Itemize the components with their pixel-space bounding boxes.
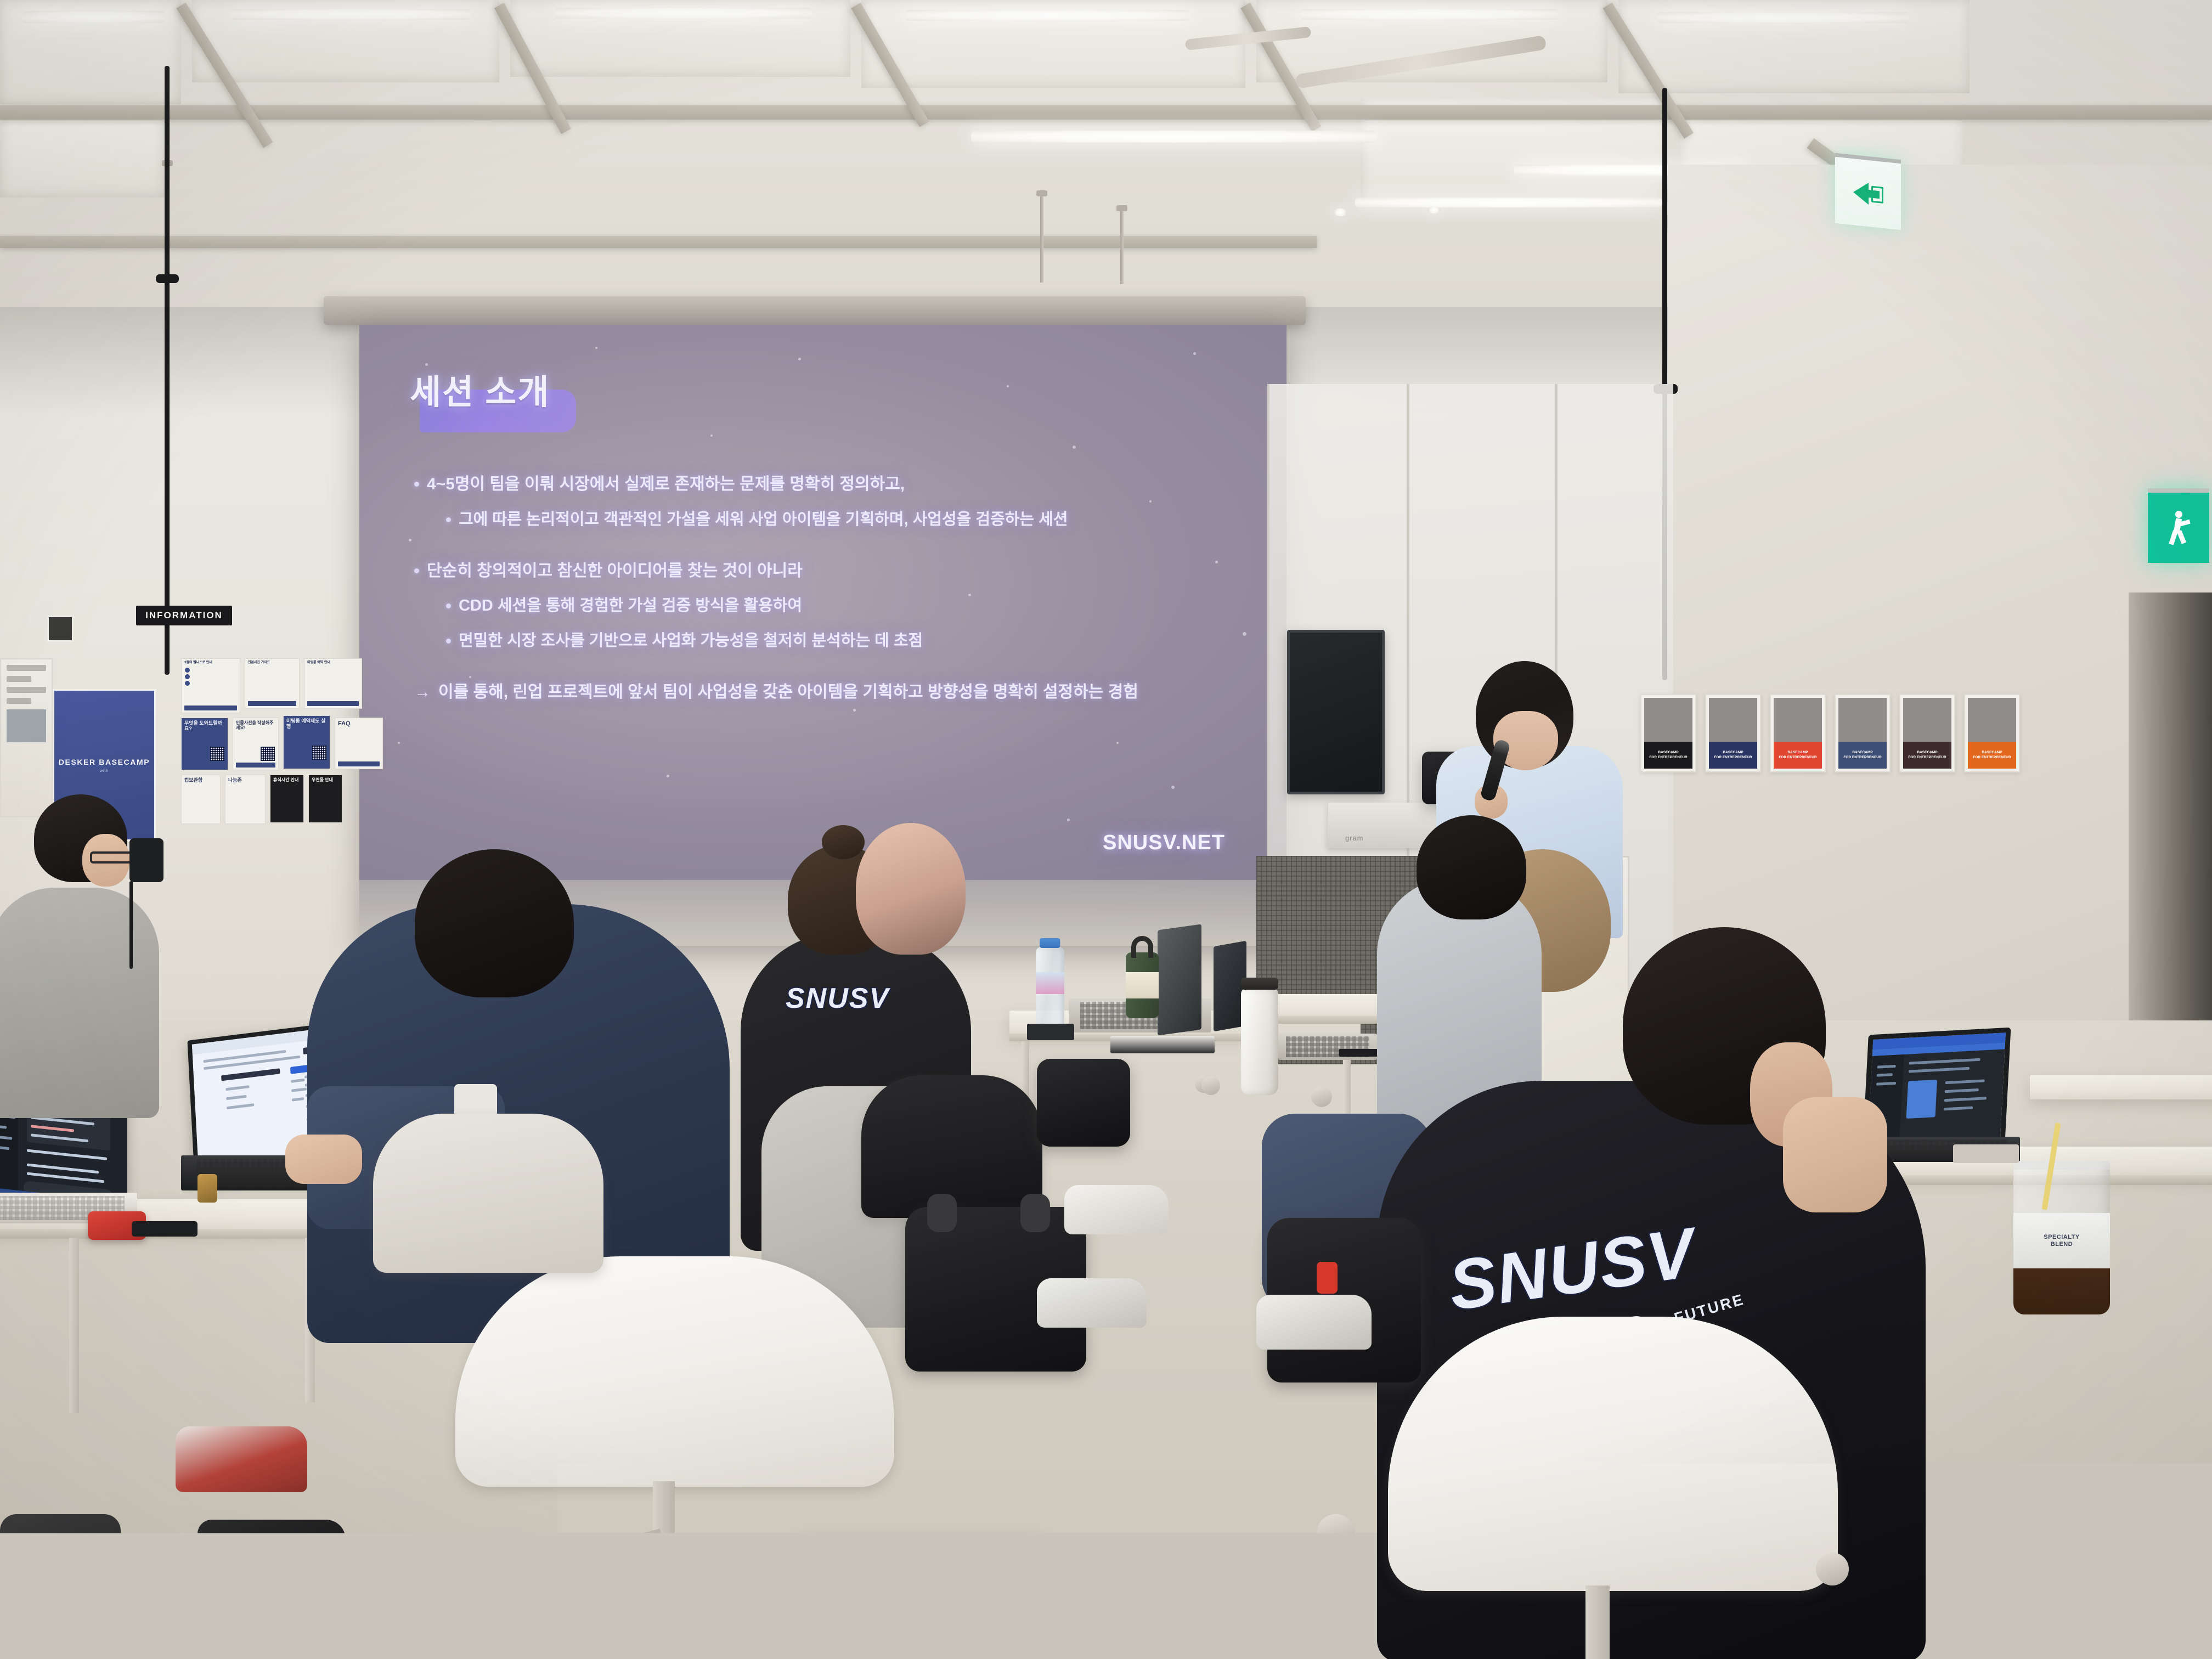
- white-tumbler: [1241, 988, 1278, 1095]
- small-photo-frame: [47, 616, 74, 642]
- poster: 인물사진을 작성해주세요!: [233, 718, 279, 770]
- cup-brand-line1: SPECIALTY: [2044, 1234, 2079, 1241]
- iced-coffee-cup: SPECIALTY BLEND: [2013, 1161, 2110, 1314]
- poster: 우편물 안내: [308, 775, 342, 823]
- attendee-left-body: [0, 888, 159, 1118]
- framed-photo: BASECAMP FOR ENTREPRENEUR: [1835, 694, 1891, 772]
- poster: 나눔존: [225, 775, 266, 824]
- cup-lid: [2013, 1161, 2110, 1170]
- arrow-right-icon: →: [414, 681, 431, 704]
- poster-heading: 인물사진을 작성해주세요!: [236, 720, 275, 730]
- foreground-desk-right: [1898, 1492, 2205, 1659]
- attendee-pink-hair: [856, 823, 966, 955]
- information-sign-label: INFORMATION: [145, 610, 223, 621]
- slide-bullet: 단순히 창의적이고 참신한 아이디어를 찾는 것이 아니라: [414, 560, 1248, 583]
- poster-wall: 3월의 웰니스로 안내 인물사진 가이드 미팅룸 예약 안내 무엇을 도와드릴까…: [181, 658, 362, 834]
- right-laptop-ui[interactable]: [1867, 1032, 2006, 1149]
- right-desk-2: [2030, 1075, 2212, 1099]
- slide-title-block: 세션 소개: [410, 364, 550, 414]
- sneaker-center: [1064, 1185, 1169, 1234]
- attendee-navy-hand: [285, 1135, 362, 1184]
- chair-back-center[interactable]: [455, 1256, 894, 1487]
- projector-screen-housing: [324, 296, 1306, 325]
- chair-caster: [1201, 1076, 1220, 1095]
- earphone-cable: [129, 881, 133, 969]
- bullet-text: 4~5명이 팀을 이뤄 시장에서 실제로 존재하는 문제를 명확히 정의하고,: [427, 473, 905, 496]
- photo-scene: 세션 소개 4~5명이 팀을 이뤄 시장에서 실제로 존재하는 문제를 명확히 …: [0, 0, 2212, 1659]
- sneaker-left: [176, 1426, 307, 1492]
- photo-caption-line1: BASECAMP: [1917, 751, 1937, 754]
- wall-mounted-tv: [1287, 630, 1385, 794]
- presenter-laptop-brand-label: gram: [1345, 834, 1364, 842]
- poster-chart-icon: [185, 668, 190, 687]
- poster: 무엇을 도와드릴까요?: [181, 718, 228, 770]
- slide-bullet: 그에 따른 논리적이고 객관적인 가설을 세워 사업 아이템을 기획하며, 사업…: [446, 509, 1248, 531]
- cable-clip-left: [156, 274, 179, 283]
- photo-caption-line2: FOR ENTREPRENEUR: [1779, 755, 1816, 759]
- attendee-center-bun: [822, 825, 865, 859]
- slide-bullet: 면밀한 시장 조사를 기반으로 사업화 가능성을 철저히 분석하는 데 초점: [446, 630, 1248, 652]
- foreground-object-left: [0, 1514, 121, 1659]
- poster-heading: FAQ: [338, 720, 380, 727]
- photo-caption-line1: BASECAMP: [1787, 751, 1808, 754]
- poster: 미팅룸 예약 안내: [304, 658, 362, 709]
- exit-sign-running-man-icon: [2148, 488, 2209, 563]
- slide-bullets: 4~5명이 팀을 이뤄 시장에서 실제로 존재하는 문제를 명확히 정의하고, …: [414, 473, 1248, 732]
- bullet-text: 이를 통해, 린업 프로젝트에 앞서 팀이 사업성을 갖춘 아이템을 기획하고 …: [438, 681, 1138, 704]
- desk-trinket: [198, 1174, 217, 1203]
- chair-caster: [1317, 1514, 1355, 1553]
- poster-heading: 컵보관함: [184, 777, 217, 783]
- attendee-gray-hair: [1417, 815, 1526, 919]
- exit-sign-arrow-icon: [1835, 153, 1901, 230]
- bullet-text: 단순히 창의적이고 참신한 아이디어를 찾는 것이 아니라: [427, 560, 803, 583]
- poster: 미팅룸 예약제도 실행: [283, 715, 330, 769]
- bullet-dot-icon: [414, 482, 419, 487]
- bullet-dot-icon: [414, 568, 419, 573]
- eyeglasses-icon: [90, 851, 133, 864]
- slide-bullet-group-1: 4~5명이 팀을 이뤄 시장에서 실제로 존재하는 문제를 명확히 정의하고, …: [414, 473, 1248, 531]
- poster: 3월의 웰니스로 안내: [181, 658, 240, 713]
- photo-image: [1838, 698, 1887, 742]
- bag-handle: [955, 1564, 1015, 1594]
- photo-caption-line1: BASECAMP: [1723, 751, 1743, 754]
- slide-bullet: CDD 세션을 통해 경험한 가설 검증 방식을 활용하여: [446, 595, 1248, 617]
- sneaker-left-2: [198, 1520, 346, 1591]
- foreground-chair-top: [510, 1558, 949, 1659]
- photo-caption-line2: FOR ENTREPRENEUR: [1714, 755, 1752, 759]
- photo-caption-line2: FOR ENTREPRENEUR: [1843, 755, 1881, 759]
- photo-caption-line2: FOR ENTREPRENEUR: [1649, 755, 1687, 759]
- photo-caption-line2: FOR ENTREPRENEUR: [1908, 755, 1946, 759]
- photo-caption-line2: FOR ENTREPRENEUR: [1973, 755, 2011, 759]
- bullet-dot-icon: [446, 517, 451, 522]
- banner-subtitle: with: [100, 769, 109, 773]
- framed-photo: BASECAMP FOR ENTREPRENEUR: [1770, 694, 1826, 772]
- bullet-dot-icon: [446, 603, 451, 608]
- slide-bullet: → 이를 통해, 린업 프로젝트에 앞서 팀이 사업성을 갖춘 아이템을 기획하…: [414, 681, 1248, 704]
- slide-title: 세션 소개: [410, 364, 550, 414]
- poster: 인물사진 가이드: [245, 658, 300, 709]
- phone-left-desk: [132, 1221, 198, 1237]
- slide-bullet-group-3: → 이를 통해, 린업 프로젝트에 앞서 팀이 사업성을 갖춘 아이템을 기획하…: [414, 681, 1248, 704]
- bullet-text: 면밀한 시장 조사를 기반으로 사업화 가능성을 철저히 분석하는 데 초점: [459, 630, 923, 652]
- banner-title: DESKER BASECAMP: [59, 758, 150, 766]
- photo-image: [1968, 698, 2016, 742]
- sneaker-center-2: [1037, 1278, 1147, 1328]
- water-bottle: [1036, 947, 1064, 1036]
- photo-image: [1774, 698, 1822, 742]
- qr-code-icon: [261, 747, 275, 761]
- phone-on-desk: [1027, 1024, 1074, 1040]
- photo-image: [1903, 698, 1951, 742]
- photo-caption-line1: BASECAMP: [1658, 751, 1678, 754]
- poster-heading: 미팅룸 예약제도 실행: [286, 718, 327, 730]
- framed-photo: BASECAMP FOR ENTREPRENEUR: [1640, 694, 1696, 772]
- center-laptop-screen: [1158, 924, 1201, 1035]
- framed-photo: BASECAMP FOR ENTREPRENEUR: [1964, 694, 2020, 772]
- chair-right-foreground[interactable]: [1388, 1317, 1838, 1591]
- slide-bullet-group-2: 단순히 창의적이고 참신한 아이디어를 찾는 것이 아니라 CDD 세션을 통해…: [414, 560, 1248, 652]
- poster-heading: 우편물 안내: [312, 777, 339, 782]
- chair-caster: [1816, 1553, 1849, 1585]
- sneaker-right: [1256, 1295, 1372, 1350]
- bullet-dot-icon: [446, 639, 451, 644]
- chair-midleft[interactable]: [373, 1114, 603, 1273]
- attendee-navy-hair: [415, 849, 574, 997]
- tumbler-lid: [1241, 978, 1278, 990]
- poster-heading: 휴식시간 안내: [273, 777, 301, 782]
- photo-caption-line1: BASECAMP: [1852, 751, 1872, 754]
- slide-logo: SNUSV.NET: [1103, 831, 1225, 855]
- qr-code-icon: [210, 747, 224, 761]
- poster-heading: 미팅룸 예약 안내: [307, 661, 359, 665]
- wall-art-panel: [0, 658, 53, 817]
- framed-photo: BASECAMP FOR ENTREPRENEUR: [1899, 694, 1955, 772]
- framed-photo-row: BASECAMP FOR ENTREPRENEUR BASECAMP FOR E…: [1640, 694, 2020, 772]
- photo-image: [1644, 698, 1692, 742]
- bullet-text: CDD 세션을 통해 경험한 가설 검증 방식을 활용하여: [459, 595, 802, 617]
- poster-heading: 무엇을 도와드릴까요?: [184, 720, 225, 732]
- notebook-stack: [1110, 1036, 1215, 1053]
- slide-bullet: 4~5명이 팀을 이뤄 시장에서 실제로 존재하는 문제를 명확히 정의하고,: [414, 473, 1248, 496]
- phone-held: [129, 838, 163, 882]
- poster-heading: 인물사진 가이드: [248, 661, 296, 665]
- backpack-tag: [1317, 1262, 1338, 1294]
- green-tumbler: [1126, 952, 1159, 1018]
- cup-brand-line2: BLEND: [2051, 1241, 2073, 1248]
- paper-sheet-right: [1953, 1144, 2019, 1163]
- poster: 휴식시간 안내: [270, 775, 304, 823]
- presenter-laptop: [1327, 803, 1438, 848]
- attendee-snusv-hand: [1783, 1097, 1887, 1212]
- poster-heading: 3월의 웰니스로 안내: [184, 661, 237, 665]
- qr-code-icon: [312, 746, 326, 760]
- photo-caption-line1: BASECAMP: [1982, 751, 2002, 754]
- poster: FAQ: [335, 718, 383, 769]
- bullet-text: 그에 따른 논리적이고 객관적인 가설을 세워 사업 아이템을 기획하며, 사업…: [459, 509, 1068, 531]
- chair-post-right: [1585, 1585, 1610, 1659]
- information-sign: INFORMATION: [136, 606, 232, 625]
- hanging-cable-left: [165, 66, 170, 675]
- cup-sleeve: SPECIALTY BLEND: [2013, 1213, 2110, 1268]
- poster: 컵보관함: [181, 775, 221, 824]
- tumbler-handle: [1131, 936, 1154, 958]
- poster-heading: 나눔존: [228, 777, 262, 783]
- backpack-small: [1037, 1059, 1130, 1147]
- framed-photo: BASECAMP FOR ENTREPRENEUR: [1705, 694, 1761, 772]
- attendee-center-hoodie-text: SNUSV: [786, 982, 889, 1015]
- photo-image: [1709, 698, 1757, 742]
